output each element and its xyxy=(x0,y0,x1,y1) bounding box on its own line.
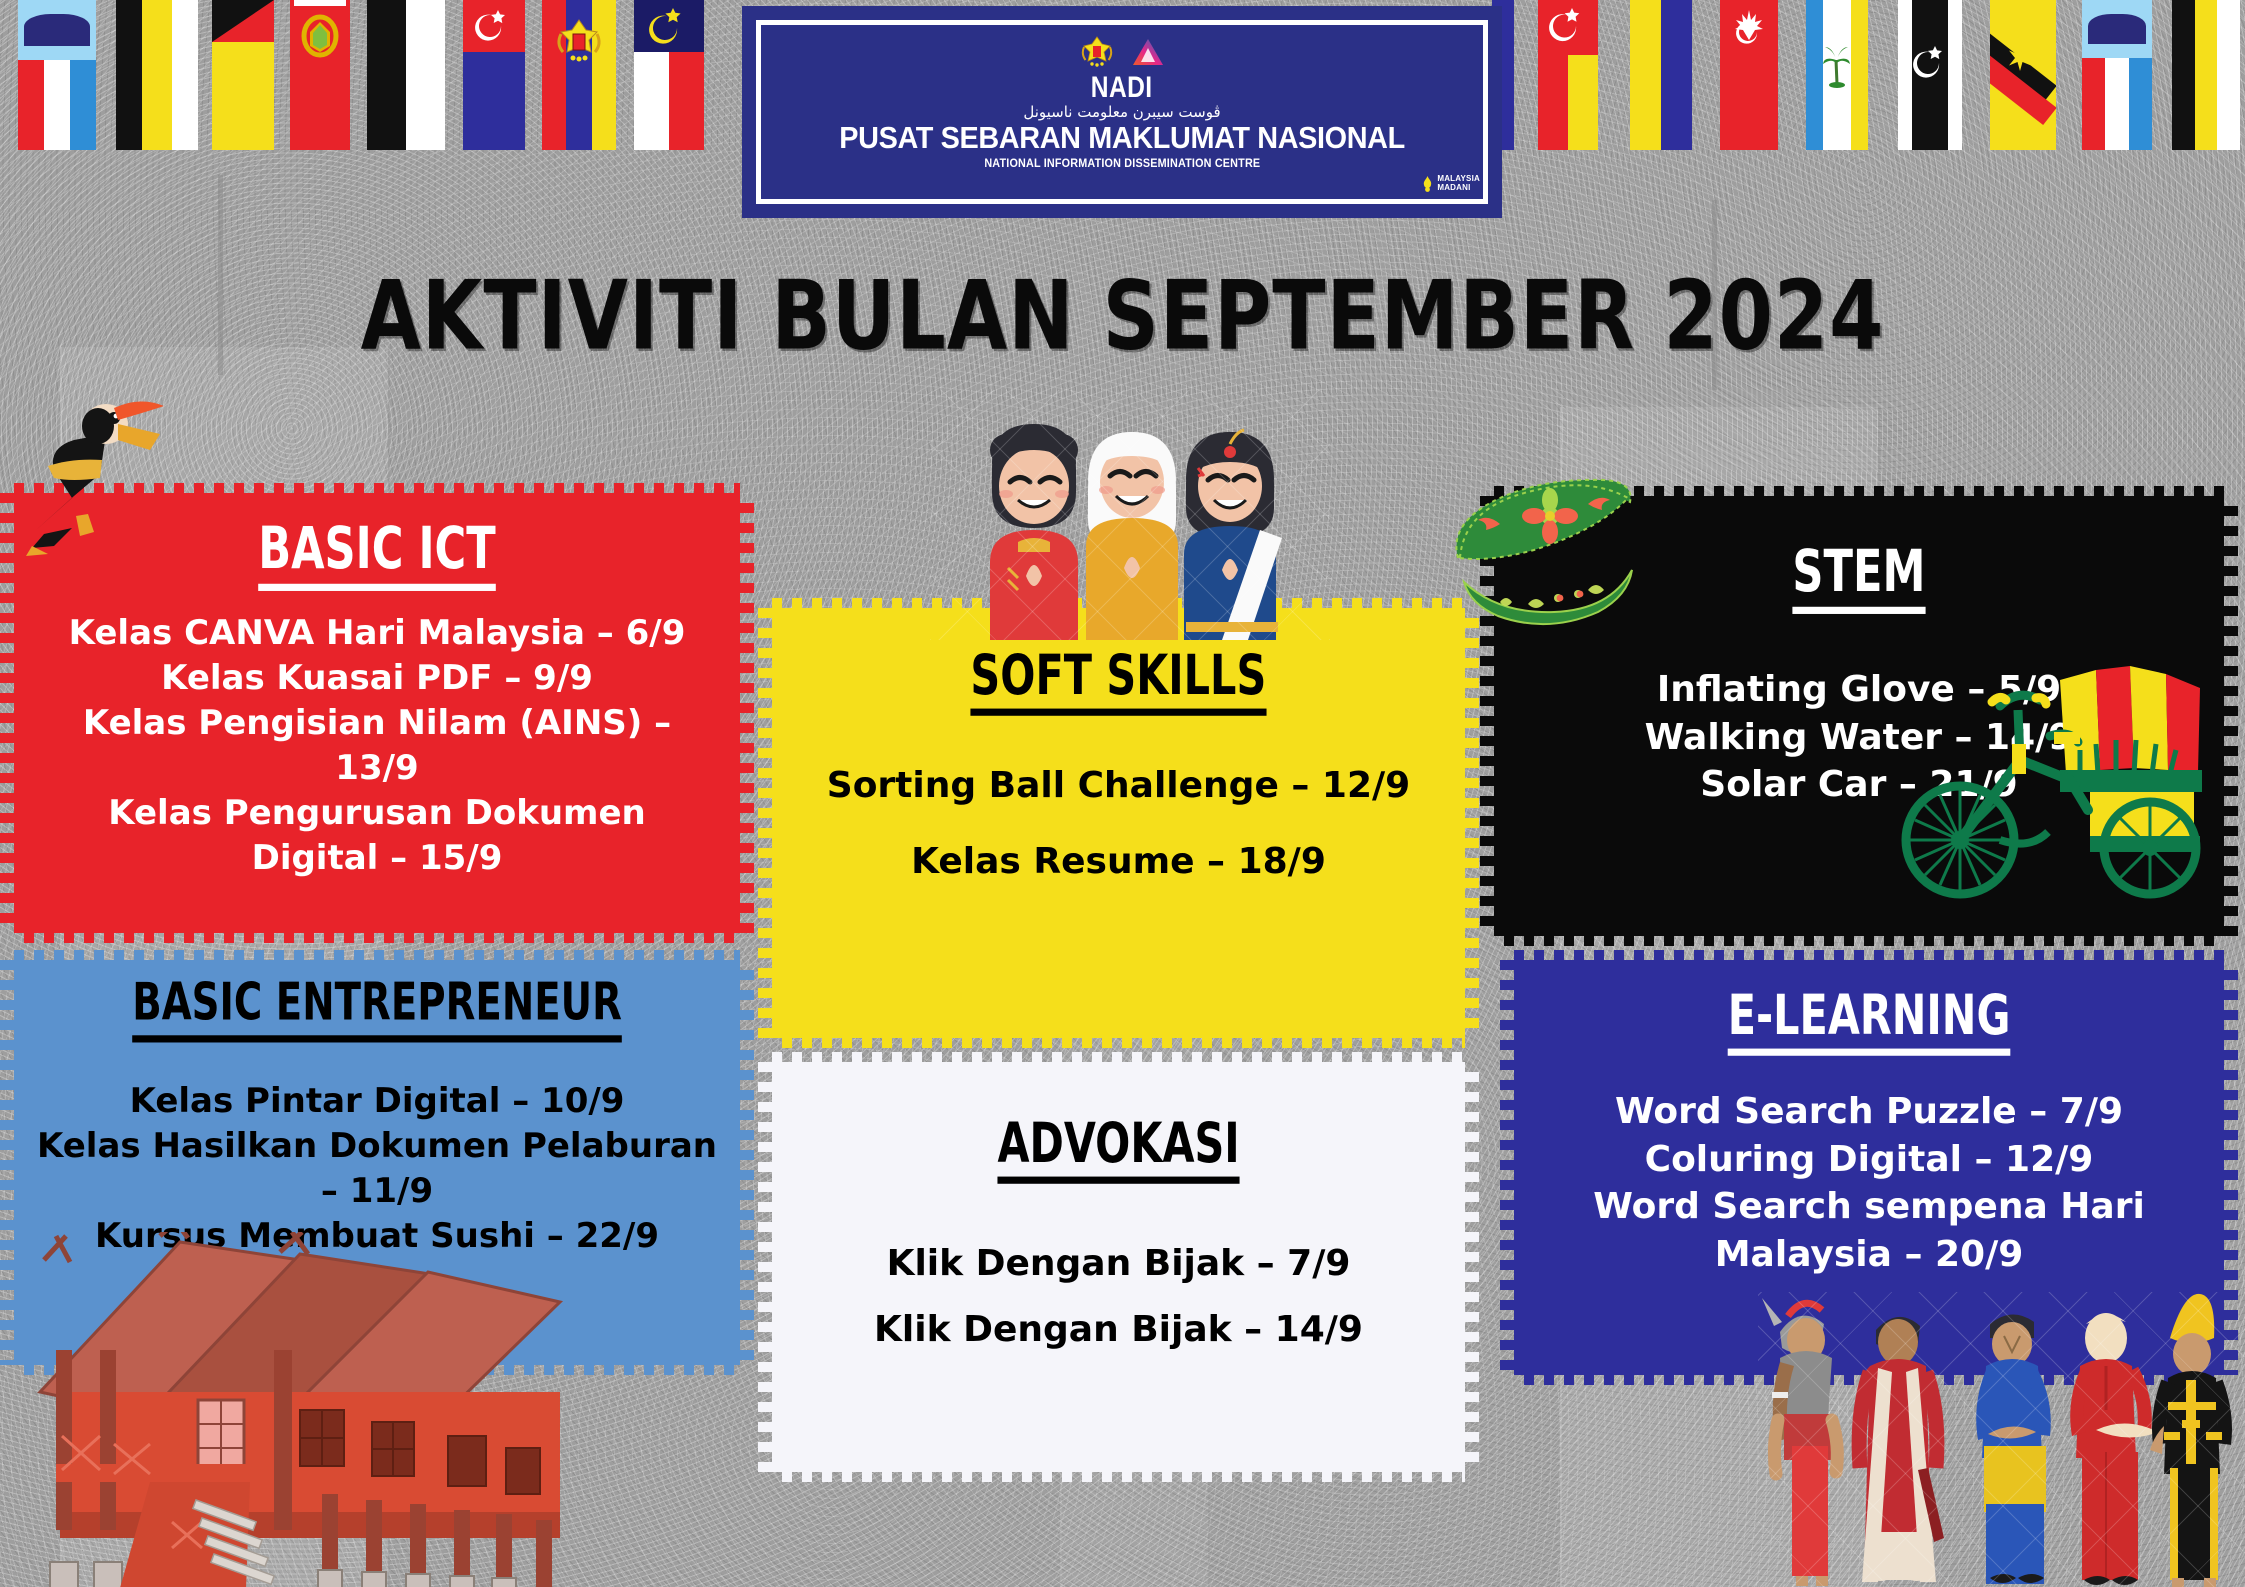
card-edge-entrepreneur-right xyxy=(740,960,754,1365)
list-item: Word Search Puzzle – 7/9 xyxy=(1538,1088,2200,1136)
card-edge-soft-skills-left xyxy=(758,608,772,1038)
list-item: Kelas Resume – 18/9 xyxy=(796,838,1441,886)
card-edge-elearning-top xyxy=(1514,950,2224,962)
kedah-wreath-icon xyxy=(300,14,340,58)
banner-english-name: NATIONAL INFORMATION DISSEMINATION CENTR… xyxy=(984,156,1260,170)
mcmc-triangle-icon xyxy=(1132,37,1164,67)
star-crescent-icon xyxy=(474,6,514,46)
card-title-basic-ict: BASIC ICT xyxy=(258,519,496,591)
card-edge-basic-ict-bottom xyxy=(14,931,740,943)
malaysia-madani-logo: MALAYSIA MADANI xyxy=(1421,175,1480,192)
card-soft-skills[interactable]: SOFT SKILLS Sorting Ball Challenge – 12/… xyxy=(772,608,1465,1038)
pahang-flag xyxy=(212,0,274,150)
card-title-basic-entrepreneur: BASIC ENTREPRENEUR xyxy=(132,976,622,1042)
list-item: Kelas Hasilkan Dokumen Pelaburan – 11/9 xyxy=(36,1124,718,1214)
perak-flag xyxy=(116,0,198,150)
star-crescent-icon xyxy=(1911,42,1951,82)
card-title-advokasi: ADVOKASI xyxy=(997,1114,1239,1184)
kedah-flag xyxy=(290,0,350,150)
perak-flag-right xyxy=(2172,0,2240,150)
sarawak-flag xyxy=(1990,0,2056,150)
jata-negara-icon xyxy=(553,16,605,66)
card-items-soft-skills: Sorting Ball Challenge – 12/9 Kelas Resu… xyxy=(796,762,1441,885)
list-item: Kelas Pengurusan Dokumen Digital – 15/9 xyxy=(40,791,714,881)
banner-logos xyxy=(1080,33,1164,71)
negeri-sembilan-crest-icon xyxy=(1728,6,1770,48)
card-title-stem: STEM xyxy=(1792,542,1925,614)
card-edge-advokasi-bottom xyxy=(772,1470,1465,1482)
card-basic-ict[interactable]: BASIC ICT Kelas CANVA Hari Malaysia – 6/… xyxy=(14,493,740,933)
melaka-flag xyxy=(634,0,704,150)
terengganu-flag xyxy=(367,0,445,150)
card-items-e-learning: Word Search Puzzle – 7/9 Coluring Digita… xyxy=(1538,1088,2200,1278)
list-item: Sorting Ball Challenge – 12/9 xyxy=(796,762,1441,810)
card-edge-entrepreneur-top xyxy=(14,950,740,962)
list-item: Klik Dengan Bijak – 7/9 xyxy=(796,1240,1441,1288)
card-items-advokasi: Klik Dengan Bijak – 7/9 Klik Dengan Bija… xyxy=(796,1240,1441,1353)
card-advokasi[interactable]: ADVOKASI Klik Dengan Bijak – 7/9 Klik De… xyxy=(772,1062,1465,1472)
banner-malay-name: PUSAT SEBARAN MAKLUMAT NASIONAL xyxy=(839,122,1405,155)
card-edge-advokasi-top xyxy=(772,1052,1465,1064)
card-items-basic-ict: Kelas CANVA Hari Malaysia – 6/9 Kelas Ku… xyxy=(40,611,714,880)
list-item: Kelas CANVA Hari Malaysia – 6/9 xyxy=(40,611,714,656)
card-title-soft-skills: SOFT SKILLS xyxy=(971,646,1267,716)
green-tengkolok-headgear-icon xyxy=(1438,458,1668,628)
penang-flag xyxy=(1806,0,1868,150)
card-edge-basic-ict-right xyxy=(740,493,754,933)
card-title-e-learning: E-LEARNING xyxy=(1728,986,2011,1056)
list-item: Coluring Digital – 12/9 xyxy=(1538,1136,2200,1184)
page-title: AKTIVITI BULAN SEPTEMBER 2024 xyxy=(0,262,2245,372)
list-item: Klik Dengan Bijak – 14/9 xyxy=(796,1306,1441,1354)
kuala-lumpur-flag xyxy=(1898,0,1962,150)
madani-flame-icon xyxy=(1421,176,1434,192)
list-item: Kelas Pengisian Nilam (AINS) – 13/9 xyxy=(40,701,714,791)
card-edge-elearning-left xyxy=(1500,960,1514,1375)
list-item: Kelas Kuasai PDF – 9/9 xyxy=(40,656,714,701)
sarawak-star-icon xyxy=(2007,45,2033,71)
card-edge-advokasi-left xyxy=(758,1062,772,1472)
selangor-flag xyxy=(1630,0,1692,150)
sabah-flag-right xyxy=(2082,0,2152,150)
card-edge-soft-skills-right xyxy=(1465,608,1479,1038)
card-edge-advokasi-right xyxy=(1465,1062,1479,1472)
kelantan-flag xyxy=(1538,0,1598,150)
sabah-flag xyxy=(18,0,96,150)
malay-stilt-house-icon xyxy=(0,1232,600,1587)
trishaw-beca-icon xyxy=(1900,640,2230,900)
star-crescent-icon xyxy=(1547,4,1589,46)
card-edge-basic-ict xyxy=(0,493,14,933)
hornbill-bird-icon xyxy=(14,378,194,558)
palm-tree-icon xyxy=(1822,44,1852,88)
list-item: Word Search sempena Hari Malaysia – 20/9 xyxy=(1538,1183,2200,1278)
list-item: Kelas Pintar Digital – 10/9 xyxy=(36,1079,718,1124)
star-crescent-yellow-icon xyxy=(647,4,691,48)
card-edge-soft-skills-bottom xyxy=(772,1036,1465,1048)
card-edge-stem-bottom xyxy=(1494,934,2224,946)
negeri-sembilan-flag xyxy=(1720,0,1778,150)
poster-canvas: NADI ڤوست سيبرن معلومت ناسيونل PUSAT SEB… xyxy=(0,0,2245,1587)
three-children-traditional-dress-icon xyxy=(930,390,1330,640)
banner-abbrev: NADI xyxy=(1091,73,1153,103)
nadi-banner: NADI ڤوست سيبرن معلومت ناسيونل PUSAT SEB… xyxy=(742,6,1502,218)
madani-line2: MADANI xyxy=(1437,184,1480,192)
johor-flag xyxy=(463,0,525,150)
malaysia-coat-of-arms-icon xyxy=(1080,35,1114,69)
five-men-traditional-costumes-icon xyxy=(1758,1292,2245,1587)
malaysia-flag xyxy=(542,0,616,150)
